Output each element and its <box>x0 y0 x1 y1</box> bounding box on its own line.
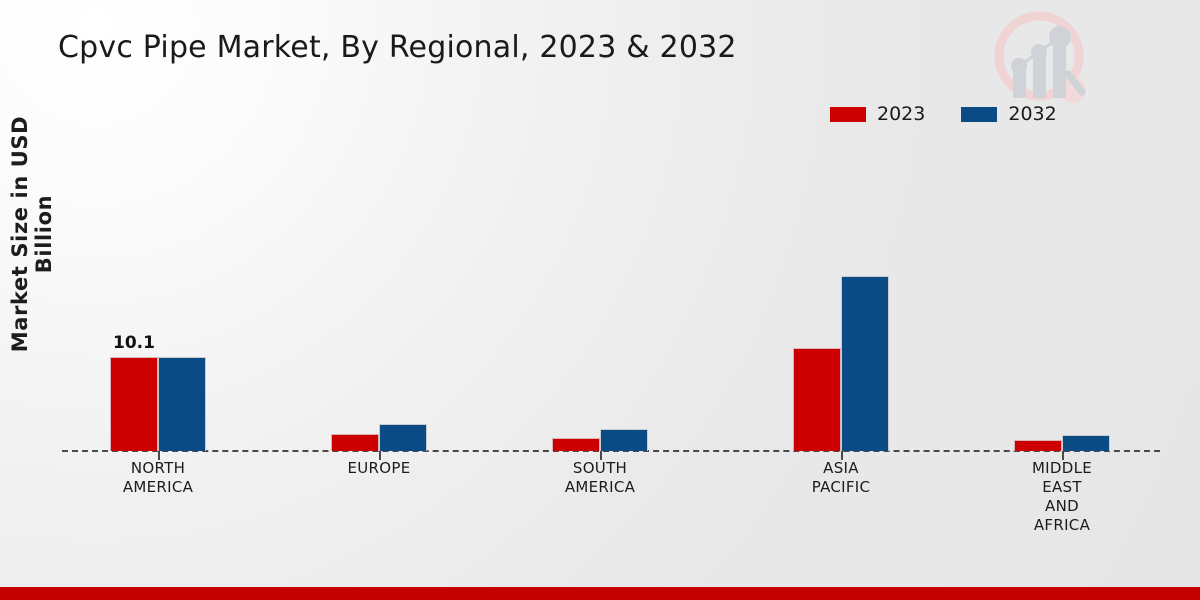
category-label-line: EAST <box>962 478 1162 497</box>
category-label-north-america: NORTH AMERICA <box>58 459 258 497</box>
category-label-line: AMERICA <box>58 478 258 497</box>
bar-south-america-2032[interactable] <box>600 429 648 451</box>
bottom-accent-strip <box>0 587 1200 600</box>
bar-group-asia-pacific <box>793 121 889 451</box>
category-label-line: PACIFIC <box>741 478 941 497</box>
bar-asia-pacific-2023[interactable] <box>793 348 841 451</box>
category-label-middle-east-and-africa: MIDDLE EAST AND AFRICA <box>962 459 1162 535</box>
category-label-europe: EUROPE <box>279 459 479 478</box>
bar-value-north-america-2023: 10.1 <box>113 333 155 353</box>
bar-north-america-2032[interactable] <box>158 357 206 451</box>
category-label-line: MIDDLE <box>962 459 1162 478</box>
category-label-line: EUROPE <box>279 459 479 478</box>
bar-group-north-america: 10.1 <box>110 121 206 451</box>
category-label-line: AND <box>962 497 1162 516</box>
category-label-asia-pacific: ASIA PACIFIC <box>741 459 941 497</box>
chart-canvas: Cpvc Pipe Market, By Regional, 2023 & 20… <box>0 0 1200 600</box>
bar-europe-2032[interactable] <box>379 424 427 451</box>
category-label-line: NORTH <box>58 459 258 478</box>
bar-middle-east-and-africa-2032[interactable] <box>1062 435 1110 451</box>
bar-north-america-2023[interactable]: 10.1 <box>110 357 158 451</box>
bar-group-middle-east-and-africa <box>1014 121 1110 451</box>
category-label-south-america: SOUTH AMERICA <box>500 459 700 497</box>
category-label-line: SOUTH <box>500 459 700 478</box>
bar-south-america-2023[interactable] <box>552 438 600 451</box>
category-label-line: AMERICA <box>500 478 700 497</box>
bar-group-europe <box>331 121 427 451</box>
category-label-line: ASIA <box>741 459 941 478</box>
category-label-line: AFRICA <box>962 516 1162 535</box>
bar-middle-east-and-africa-2023[interactable] <box>1014 440 1062 451</box>
bar-europe-2023[interactable] <box>331 434 379 451</box>
bar-asia-pacific-2032[interactable] <box>841 276 889 451</box>
bar-group-south-america <box>552 121 648 451</box>
plot-area: 10.1 NORTH AMERICA EUROPE SOUTH AMERICA <box>0 0 1200 600</box>
